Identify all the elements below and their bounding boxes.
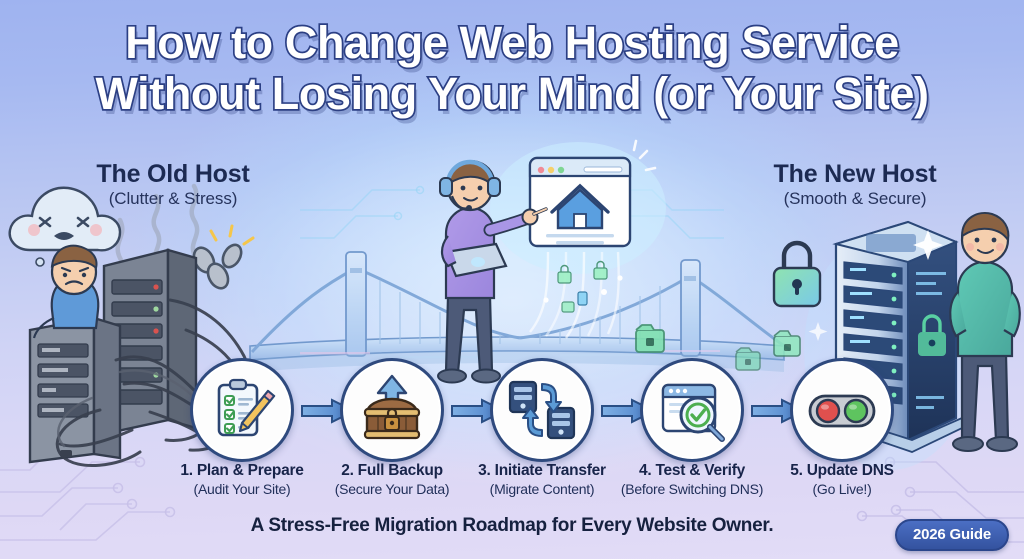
suspension-bridge [250, 252, 790, 372]
sparkle-icon [809, 230, 944, 341]
server-transfer-arrows-icon [504, 372, 580, 448]
browser-window-icon [530, 158, 630, 246]
data-stream-icons [543, 262, 622, 313]
clipboard-checklist-pencil-icon [205, 373, 279, 447]
step-node-full-backup[interactable] [340, 358, 444, 462]
old-host-heading: The Old Host [28, 160, 318, 188]
title-line-1: How to Change Web Hosting Service [0, 20, 1024, 67]
year-guide-badge: 2026 Guide [895, 519, 1009, 551]
step-circle-5[interactable] [790, 358, 894, 462]
step-title: 5. Update DNS [747, 462, 937, 480]
server-bottom-right [548, 408, 574, 438]
step-node-test-verify[interactable] [640, 358, 744, 462]
folder-lock-icon [774, 331, 800, 356]
new-host-heading-group: The New Host (Smooth & Secure) [710, 160, 1000, 209]
center-scene [438, 141, 666, 383]
step-node-initiate-transfer[interactable] [490, 358, 594, 462]
folder-lock-icon-center [636, 325, 664, 352]
padlock-icon [918, 316, 946, 356]
old-host-heading-group: The Old Host (Clutter & Stress) [28, 160, 318, 209]
step-node-update-dns[interactable] [790, 358, 894, 462]
page-title: How to Change Web Hosting Service Withou… [0, 20, 1024, 118]
step-circle-3[interactable] [490, 358, 594, 462]
treasure-chest-lock-icon [355, 373, 429, 447]
toggle-switch-red-green-icon [804, 372, 880, 448]
new-host-heading: The New Host [710, 160, 1000, 188]
broken-chain-icon [190, 226, 253, 292]
footer-tagline: A Stress-Free Migration Roadmap for Ever… [0, 515, 1024, 537]
step-node-plan-prepare[interactable] [190, 358, 294, 462]
step-label-update-dns: 5. Update DNS (Go Live!) [747, 462, 937, 497]
support-agent-person-icon [438, 161, 546, 383]
browser-magnifier-check-icon [655, 373, 729, 447]
title-line-2: Without Losing Your Mind (or Your Site) [0, 71, 1024, 118]
step-circle-1[interactable] [190, 358, 294, 462]
frustrated-person-icon [34, 246, 98, 338]
house-icon [552, 186, 608, 228]
headset-icon [440, 162, 500, 211]
steps-row [0, 358, 1024, 468]
step-caption: (Go Live!) [747, 481, 937, 497]
tablet-icon [446, 244, 506, 276]
step-circle-2[interactable] [340, 358, 444, 462]
new-host-subheading: (Smooth & Secure) [710, 189, 1000, 209]
old-host-subheading: (Clutter & Stress) [28, 189, 318, 209]
padlock-icon-floating [774, 243, 820, 306]
server-top-left [510, 382, 536, 412]
step-circle-4[interactable] [640, 358, 744, 462]
infographic-canvas: How to Change Web Hosting Service Withou… [0, 0, 1024, 559]
